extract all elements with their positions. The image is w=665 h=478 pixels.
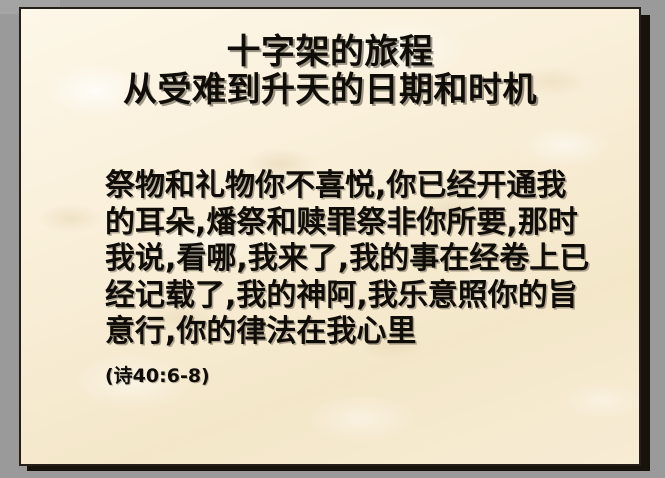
scripture-citation: (诗40:6-8) [105,361,625,388]
body-text-line: 意行,你的律法在我心里 [105,314,625,351]
body-text-line: 我说,看哪,我来了,我的事在经卷上已 [105,241,625,278]
slide-title: 十字架的旅程 从受难到升天的日期和时机 [21,34,639,108]
body-text-line: 的耳朵,燔祭和赎罪祭非你所要,那时 [105,205,625,242]
slide-title-line-2: 从受难到升天的日期和时机 [21,72,639,108]
slide-body: 祭物和礼物你不喜悦,你已经开通我 的耳朵,燔祭和赎罪祭非你所要,那时 我说,看哪… [105,168,625,388]
body-text-line: 祭物和礼物你不喜悦,你已经开通我 [105,168,625,205]
slide-title-line-1: 十字架的旅程 [21,34,639,70]
body-text-line: 经记载了,我的神阿,我乐意照你的旨 [105,278,625,315]
presentation-slide[interactable]: 十字架的旅程 从受难到升天的日期和时机 祭物和礼物你不喜悦,你已经开通我 的耳朵… [19,7,641,466]
